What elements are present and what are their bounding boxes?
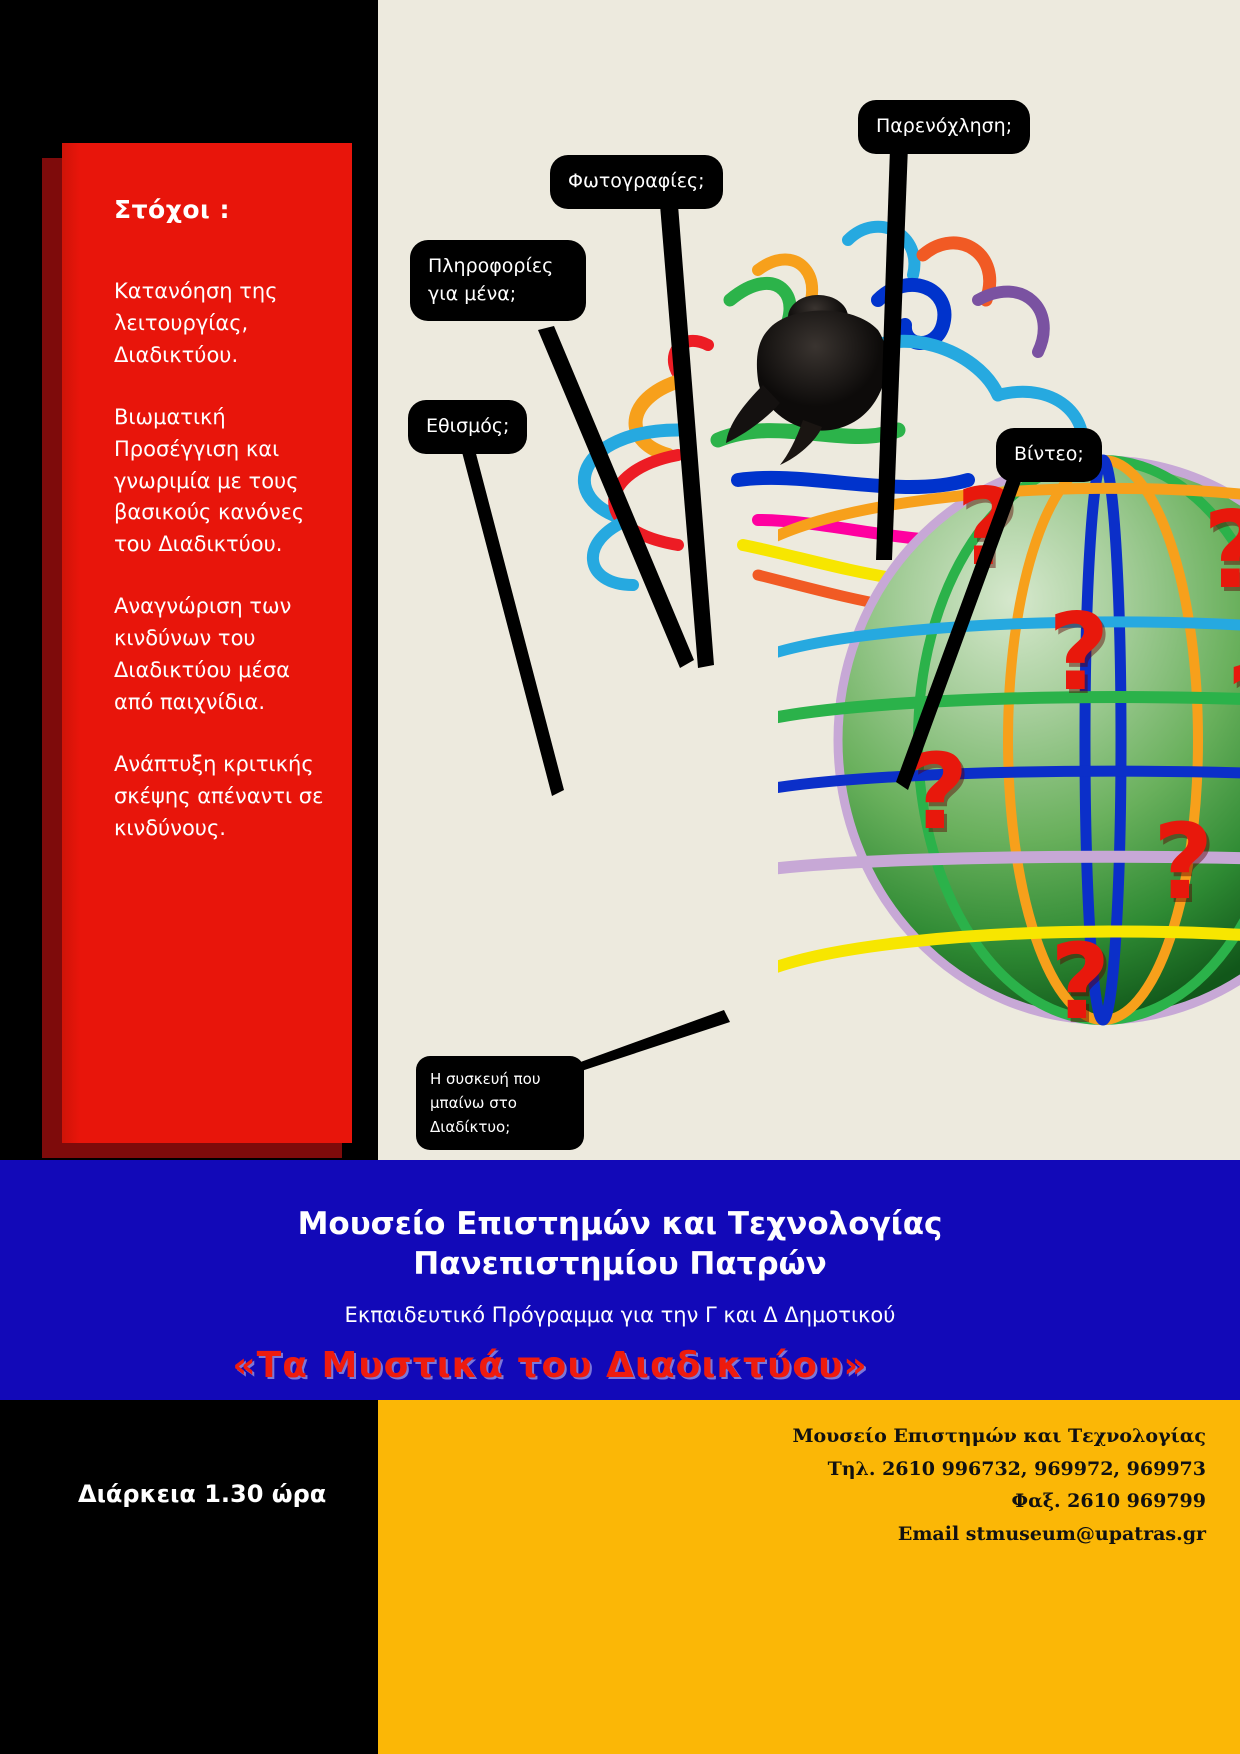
contact-fax: Φαξ. 2610 969799 [378,1485,1206,1518]
bubble-addiction[interactable]: Εθισμός; [408,400,527,454]
museum-name-line2: Πανεπιστημίου Πατρών [0,1244,1240,1284]
program-subtitle: Εκπαιδευτικό Πρόγραμμα για την Γ και Δ Δ… [0,1303,1240,1327]
contact-museum: Μουσείο Επιστημών και Τεχνολογίας [378,1420,1206,1453]
poster-canvas: ? ? ? ? ? ? ? [0,0,1240,1754]
question-mark: ? [1203,498,1240,604]
question-mark: ? [908,740,968,844]
objectives-title: Στόχοι : [114,195,326,224]
bubble-device[interactable]: Η συσκευή που μπαίνω στο Διαδίκτυο; [416,1056,584,1150]
contact-phone: Τηλ. 2610 996732, 969972, 969973 [378,1453,1206,1486]
objective-item: Ανάπτυξη κριτικής σκέψης απέναντι σε κιν… [114,749,326,845]
bubble-info-about-me[interactable]: Πληροφορίες για μένα; [410,240,586,321]
question-mark: ? [1226,652,1240,764]
bubble-video[interactable]: Βίντεο; [996,428,1102,482]
contact-panel: Μουσείο Επιστημών και Τεχνολογίας Τηλ. 2… [378,1400,1240,1754]
question-mark: ? [1050,930,1110,1034]
objective-item: Βιωματική Προσέγγιση και γνωριμία με του… [114,402,326,562]
duration-label: Διάρκεια 1.30 ώρα [78,1480,326,1508]
museum-name-line1: Μουσείο Επιστημών και Τεχνολογίας [0,1160,1240,1244]
question-mark: ? [1048,600,1110,706]
artwork-panel: ? ? ? ? ? ? ? [378,0,1240,1160]
question-mark: ? [1153,810,1213,914]
objective-item: Κατανόηση της λειτουργίας, Διαδικτύου. [114,276,326,372]
program-title: «Τα Μυστικά του Διαδικτύου» [0,1345,1100,1386]
contact-email: Email stmuseum@upatras.gr [378,1518,1206,1551]
objective-item: Αναγνώριση των κινδύνων του Διαδικτύου μ… [114,591,326,719]
objectives-panel: Στόχοι : Κατανόηση της λειτουργίας, Διαδ… [62,143,352,1143]
bubble-photos[interactable]: Φωτογραφίες; [550,155,723,209]
bubble-harassment[interactable]: Παρενόχληση; [858,100,1030,154]
globe-illustration: ? ? ? ? ? ? ? [778,420,1240,1040]
question-mark: ? [956,475,1018,581]
